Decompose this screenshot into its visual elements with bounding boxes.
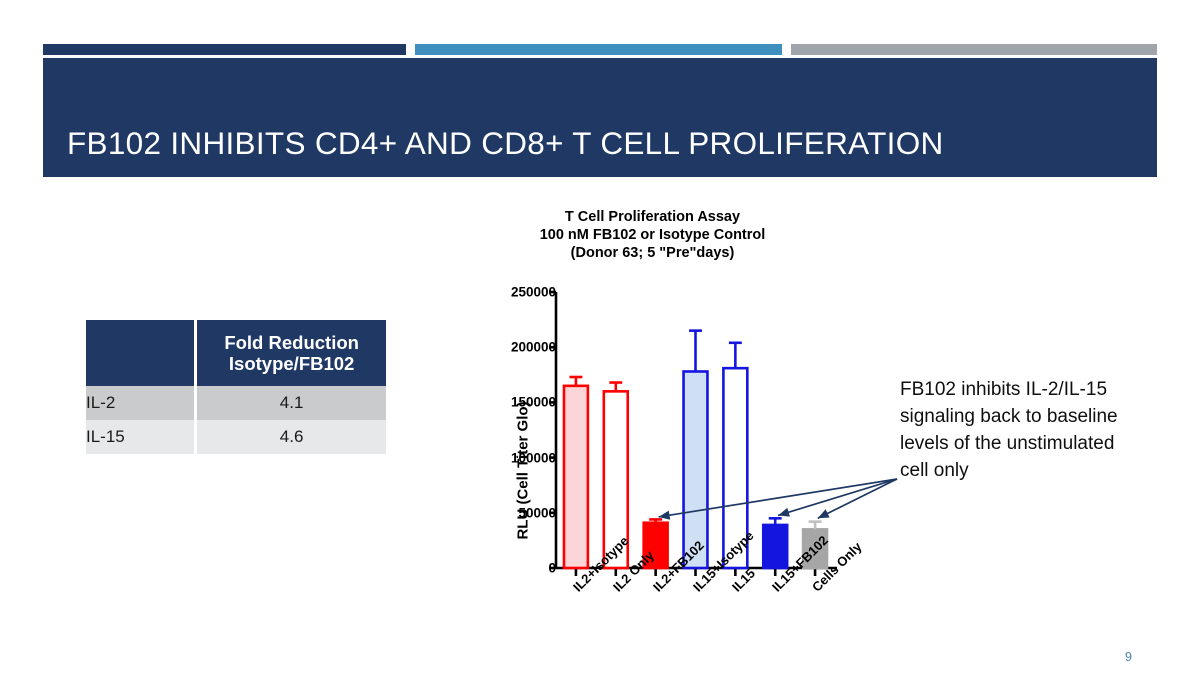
annotation-line-2: signaling back to baseline xyxy=(900,404,1190,431)
table-row: IL-15 4.6 xyxy=(86,420,386,454)
table-header-fold-reduction: Fold Reduction Isotype/FB102 xyxy=(196,320,386,386)
annotation-line-3: levels of the unstimulated xyxy=(900,431,1190,458)
x-tick-label: IL15 xyxy=(729,566,758,595)
table-header-row: Fold Reduction Isotype/FB102 xyxy=(86,320,386,386)
table-header-line2: Isotype/FB102 xyxy=(197,353,386,374)
table-row: IL-2 4.1 xyxy=(86,386,386,420)
bar-chart: T Cell Proliferation Assay100 nM FB102 o… xyxy=(480,196,900,646)
accent-bar-navy xyxy=(43,44,406,55)
accent-bar-gray xyxy=(791,44,1157,55)
table-row-label-il2: IL-2 xyxy=(86,386,196,420)
page-title: FB102 INHIBITS CD4+ AND CD8+ T CELL PROL… xyxy=(67,125,944,162)
table-header-line1: Fold Reduction xyxy=(197,332,386,353)
annotation-line-1: FB102 inhibits IL-2/IL-15 xyxy=(900,377,1190,404)
annotation-line-4: cell only xyxy=(900,458,1190,485)
table-row-value-il15: 4.6 xyxy=(196,420,386,454)
chart-x-tick-labels: IL2+IsotypeIL2 OnlyIL2+FB102IL15+Isotype… xyxy=(480,196,900,646)
accent-bar-blue xyxy=(415,44,782,55)
table-header-blank xyxy=(86,320,196,386)
fold-reduction-table: Fold Reduction Isotype/FB102 IL-2 4.1 IL… xyxy=(86,320,386,454)
table-row-label-il15: IL-15 xyxy=(86,420,196,454)
table-row-value-il2: 4.1 xyxy=(196,386,386,420)
annotation-text: FB102 inhibits IL-2/IL-15 signaling back… xyxy=(900,377,1190,485)
title-banner: FB102 INHIBITS CD4+ AND CD8+ T CELL PROL… xyxy=(43,58,1157,177)
slide-number: 9 xyxy=(1125,650,1132,664)
